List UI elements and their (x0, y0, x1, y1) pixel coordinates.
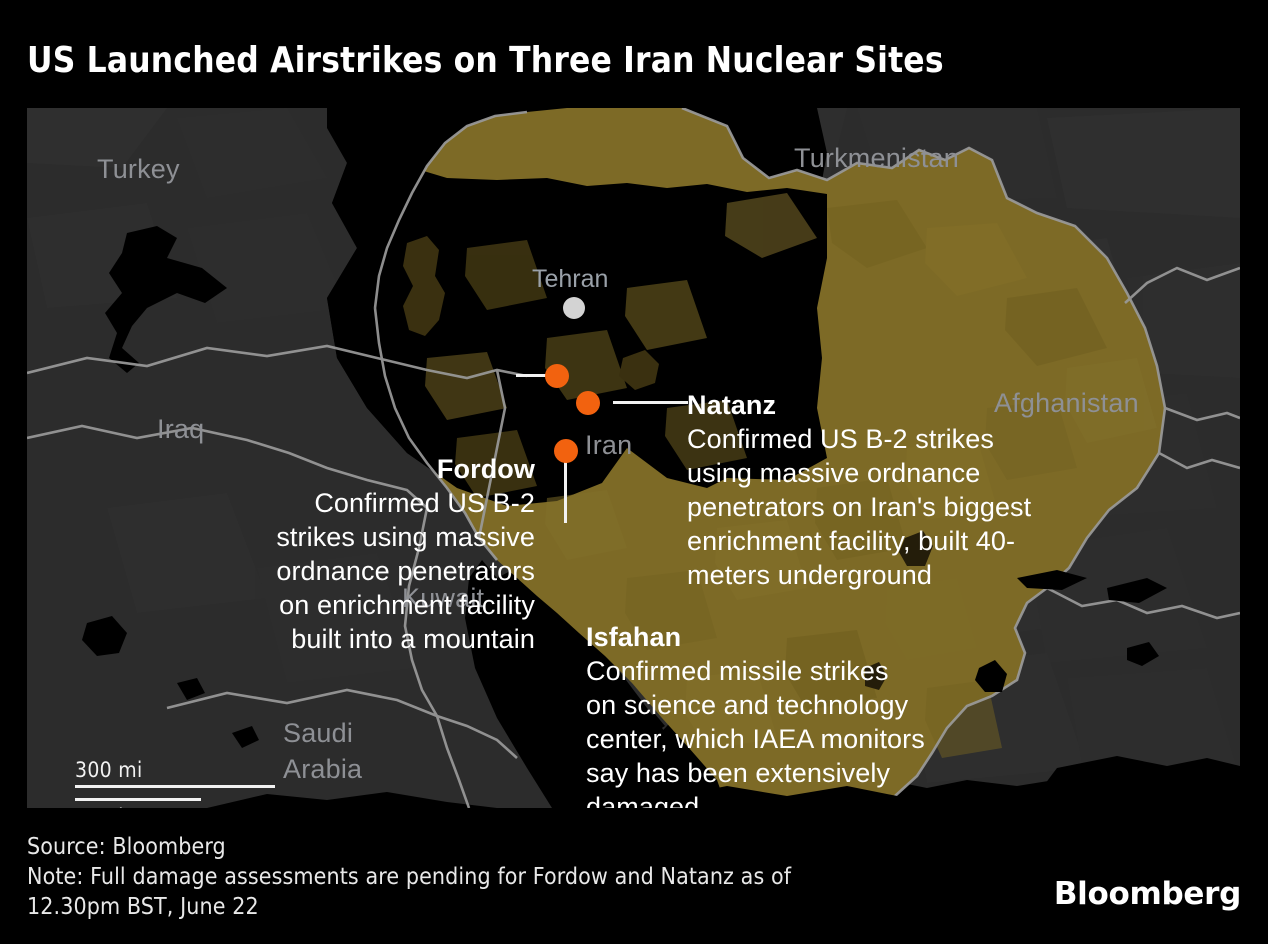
annotation-natanz-title: Natanz (687, 388, 1032, 422)
map-canvas[interactable]: Turkey Turkmenistan Afghanistan Iraq Ira… (27, 108, 1240, 808)
scale-km-line (75, 798, 201, 801)
bloomberg-logo: Bloomberg (1054, 876, 1241, 912)
page-title: US Launched Airstrikes on Three Iran Nuc… (27, 40, 944, 81)
site-marker-isfahan[interactable] (554, 439, 578, 463)
header-bar: US Launched Airstrikes on Three Iran Nuc… (0, 0, 1268, 108)
scale-bar: 300 mi 300 km (75, 758, 275, 808)
site-marker-natanz[interactable] (576, 391, 600, 415)
leader-line-natanz (613, 401, 688, 404)
annotation-natanz-body: Confirmed US B-2 strikes using massive o… (687, 422, 1032, 592)
footnote: Note: Full damage assessments are pendin… (27, 862, 791, 922)
scale-miles-line (75, 785, 275, 788)
annotation-fordow-title: Fordow (239, 452, 535, 486)
annotation-natanz: Natanz Confirmed US B-2 strikes using ma… (687, 388, 1032, 592)
annotation-isfahan-title: Isfahan (586, 620, 926, 654)
annotation-isfahan-body: Confirmed missile strikes on science and… (586, 654, 926, 808)
annotation-isfahan: Isfahan Confirmed missile strikes on sci… (586, 620, 926, 808)
site-marker-fordow[interactable] (545, 364, 569, 388)
annotation-fordow-body: Confirmed US B-2 strikes using massive o… (239, 486, 535, 656)
source-note: Source: Bloomberg (27, 832, 226, 862)
scale-miles-label: 300 mi (75, 758, 275, 782)
city-label-tehran: Tehran (532, 265, 608, 294)
annotation-fordow: Fordow Confirmed US B-2 strikes using ma… (239, 452, 535, 656)
leader-line-isfahan (564, 460, 567, 523)
city-dot-tehran (563, 297, 585, 319)
